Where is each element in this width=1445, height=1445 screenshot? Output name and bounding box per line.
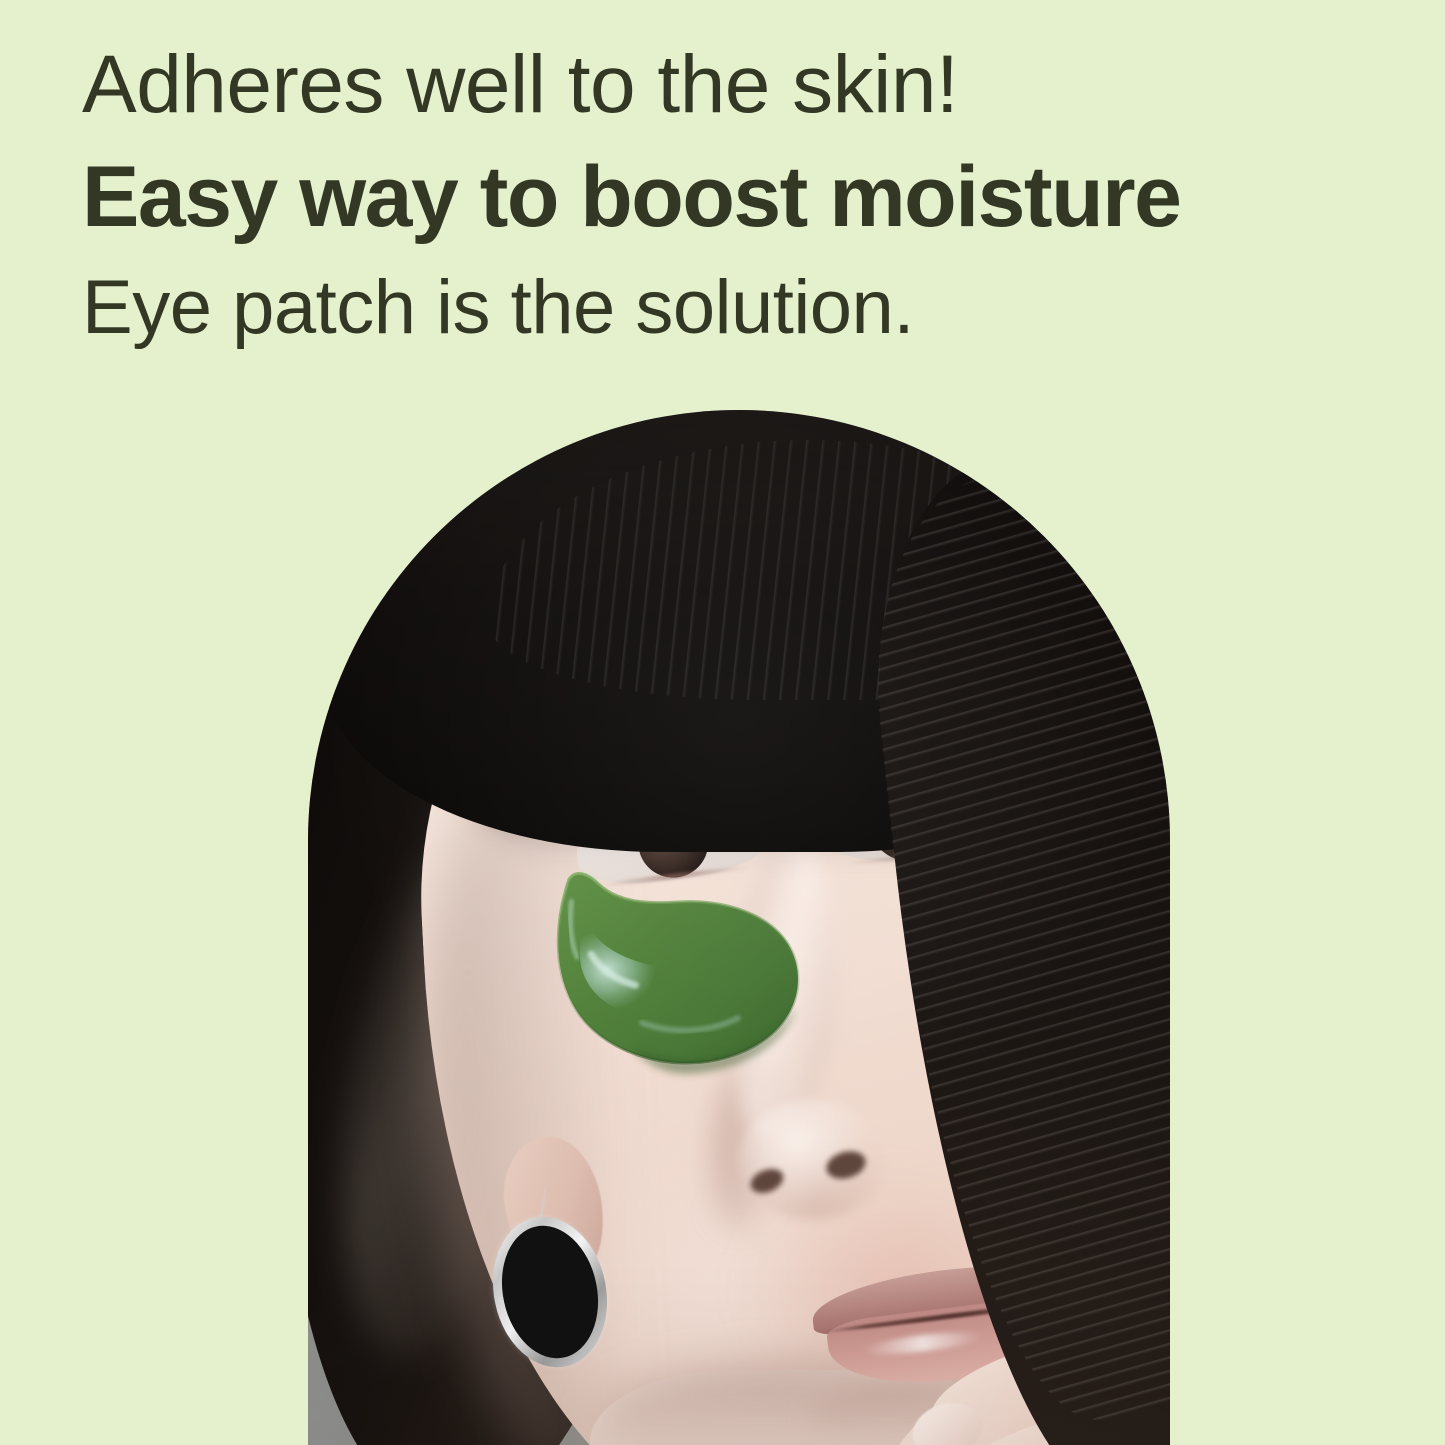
- headline-eyebrow: Adheres well to the skin!: [82, 44, 1372, 126]
- photo-stage: [308, 410, 1170, 1445]
- eye-patch: [522, 828, 839, 1100]
- eye-patch-shape: [522, 828, 839, 1100]
- promo-card: Adheres well to the skin! Easy way to bo…: [0, 0, 1445, 1445]
- headline-main: Easy way to boost moisture: [82, 154, 1372, 240]
- headline-block: Adheres well to the skin! Easy way to bo…: [82, 44, 1372, 346]
- headline-sub: Eye patch is the solution.: [82, 270, 1372, 346]
- product-photo-arch: [308, 410, 1170, 1445]
